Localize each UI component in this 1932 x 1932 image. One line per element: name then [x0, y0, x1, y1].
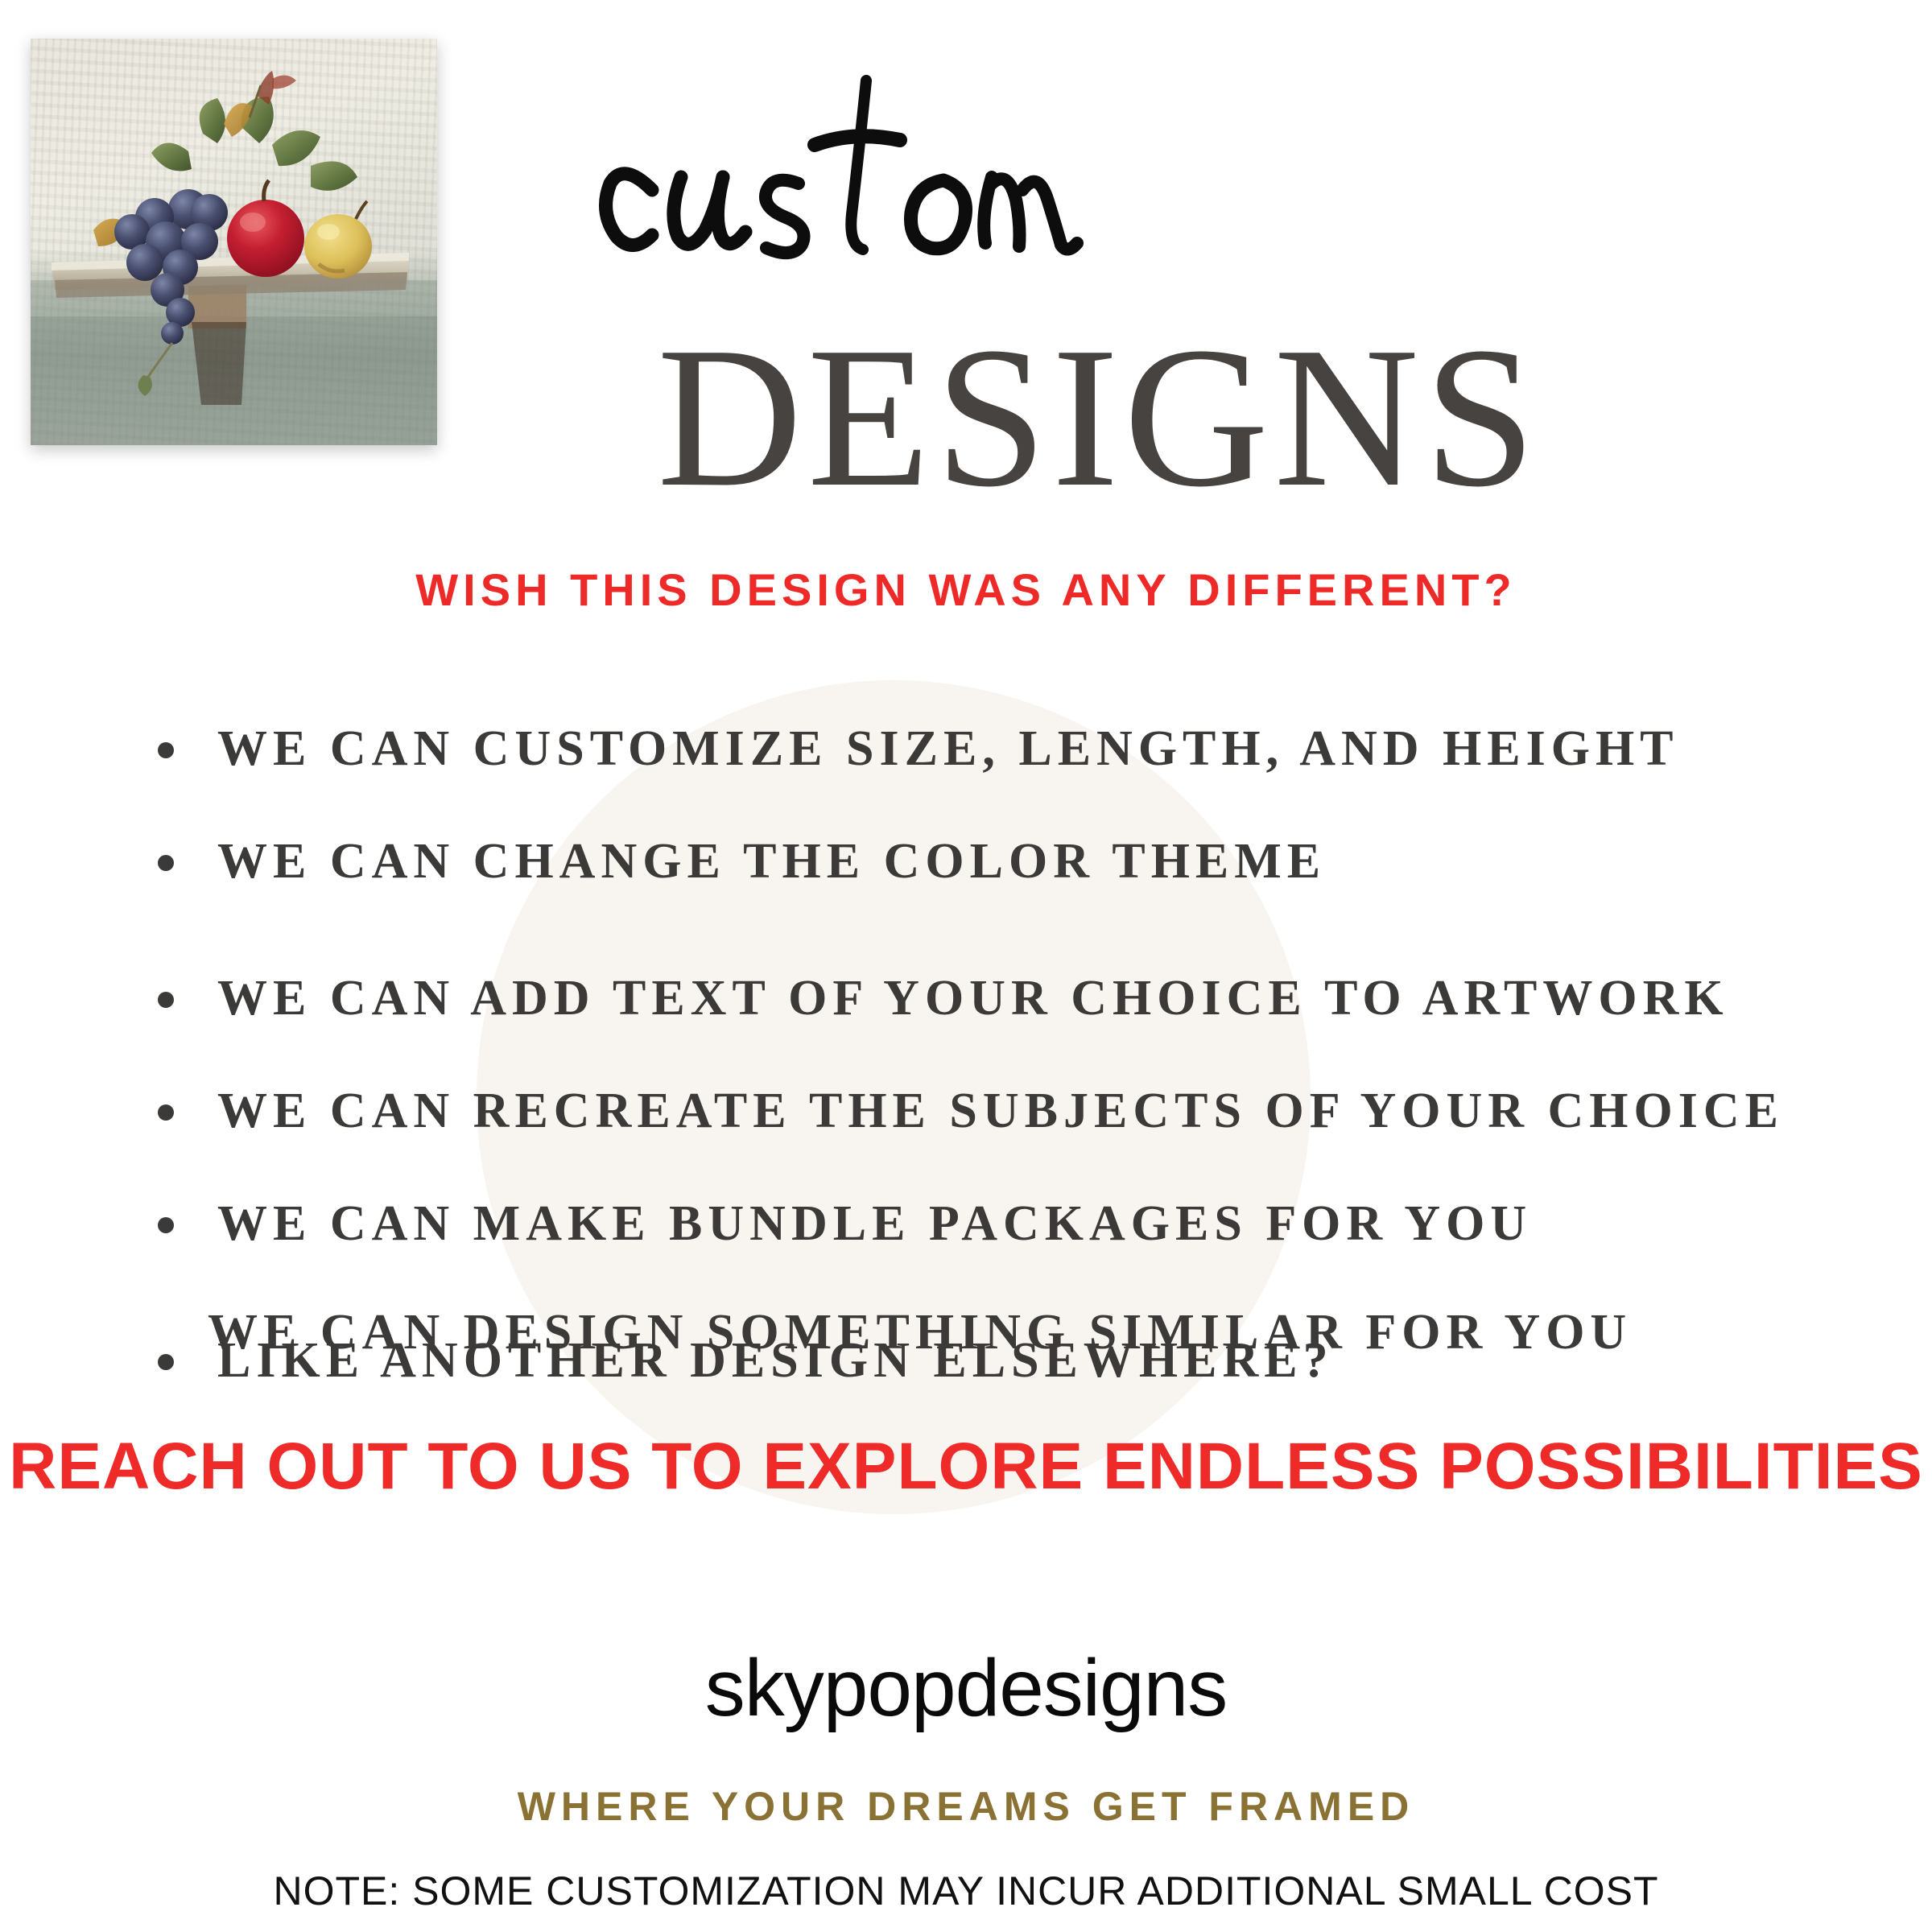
bullet-dot-icon: [158, 1104, 174, 1121]
brand-logo-text: skypopdesigns: [0, 1642, 1932, 1735]
list-item: WE CAN ADD TEXT OF YOUR CHOICE TO ARTWOR…: [0, 942, 1932, 1055]
list-item: WE CAN CUSTOMIZE SIZE, LENGTH, AND HEIGH…: [0, 692, 1932, 805]
list-item: WE CAN CHANGE THE COLOR THEME: [0, 805, 1932, 918]
still-life-painting-illustration: [31, 39, 437, 445]
bullet-dot-icon: [158, 742, 174, 758]
brand-tagline: WHERE YOUR DREAMS GET FRAMED: [0, 1783, 1932, 1830]
list-item: WE CAN MAKE BUNDLE PACKAGES FOR YOU: [0, 1167, 1932, 1280]
bullet-dot-icon: [158, 855, 174, 871]
product-artwork-thumbnail[interactable]: [31, 39, 437, 445]
list-item: WE CAN RECREATE THE SUBJECTS OF YOUR CHO…: [0, 1055, 1932, 1167]
footer-disclaimer-note: NOTE: SOME CUSTOMIZATION MAY INCUR ADDIT…: [0, 1868, 1932, 1914]
bullet-dot-icon: [158, 1217, 174, 1233]
headline-script-word: [451, 63, 1417, 264]
bullet-dot-icon: [158, 992, 174, 1008]
custom-designs-poster: DESIGNS WISH THIS DESIGN WAS ANY DIFFERE…: [0, 0, 1932, 1932]
list-item-label: WE CAN RECREATE THE SUBJECTS OF YOUR CHO…: [217, 1084, 1784, 1138]
subheading-question: WISH THIS DESIGN WAS ANY DIFFERENT?: [0, 563, 1932, 616]
list-item-label: WE CAN CHANGE THE COLOR THEME: [217, 834, 1326, 889]
list-item-label: WE CAN CUSTOMIZE SIZE, LENGTH, AND HEIGH…: [217, 721, 1679, 776]
list-item-continuation: WE CAN DESIGN SOMETHING SIMILAR FOR YOU: [0, 1288, 1932, 1377]
list-item-label: WE CAN MAKE BUNDLE PACKAGES FOR YOU: [217, 1196, 1532, 1251]
list-item-label: WE CAN ADD TEXT OF YOUR CHOICE TO ARTWOR…: [217, 971, 1729, 1026]
call-to-action-text[interactable]: REACH OUT TO US TO EXPLORE ENDLESS POSSI…: [0, 1429, 1932, 1505]
